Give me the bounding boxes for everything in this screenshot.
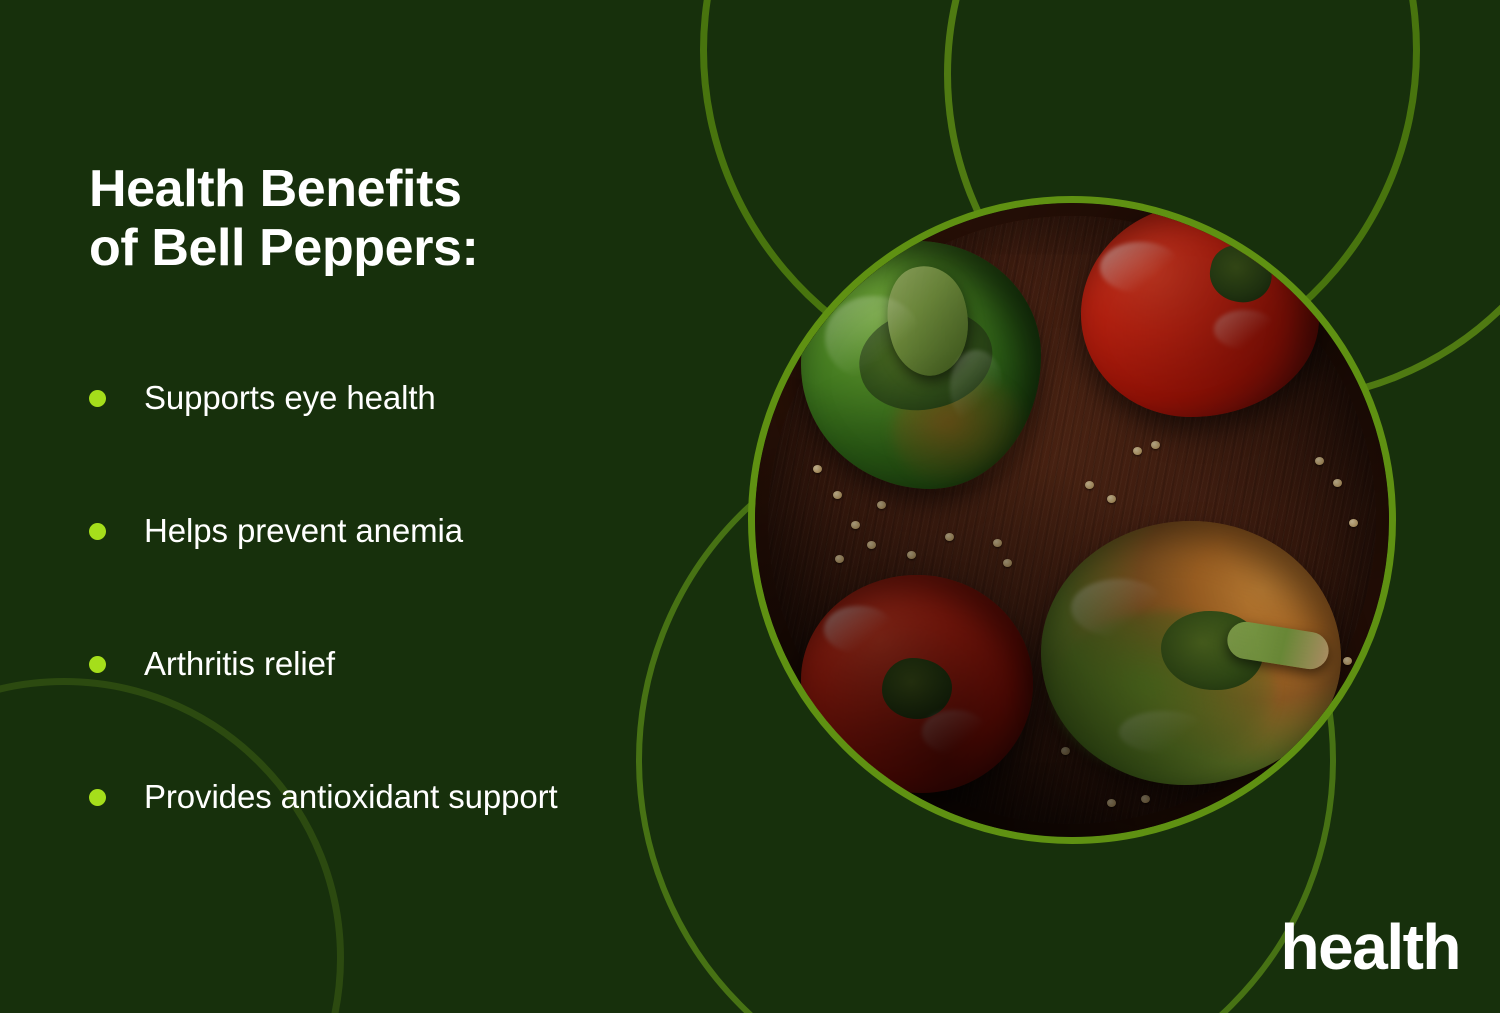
- list-item: Provides antioxidant support: [89, 771, 789, 823]
- photo-inner: [755, 203, 1389, 837]
- bullet-dot-icon: [89, 523, 106, 540]
- brand-logo: health: [1281, 915, 1460, 979]
- benefit-label: Supports eye health: [144, 379, 436, 417]
- list-item: Supports eye health: [89, 372, 789, 424]
- benefits-list: Supports eye health Helps prevent anemia…: [89, 372, 789, 823]
- page-title: Health Benefits of Bell Peppers:: [89, 160, 709, 279]
- list-item: Arthritis relief: [89, 638, 789, 690]
- bell-peppers-photo: [748, 196, 1396, 844]
- bullet-dot-icon: [89, 656, 106, 673]
- benefit-label: Provides antioxidant support: [144, 778, 558, 816]
- bullet-dot-icon: [89, 789, 106, 806]
- list-item: Helps prevent anemia: [89, 505, 789, 557]
- benefit-label: Helps prevent anemia: [144, 512, 463, 550]
- infographic-canvas: Health Benefits of Bell Peppers: Support…: [0, 0, 1500, 1013]
- benefit-label: Arthritis relief: [144, 645, 335, 683]
- bullet-dot-icon: [89, 390, 106, 407]
- photo-vignette: [755, 203, 1389, 837]
